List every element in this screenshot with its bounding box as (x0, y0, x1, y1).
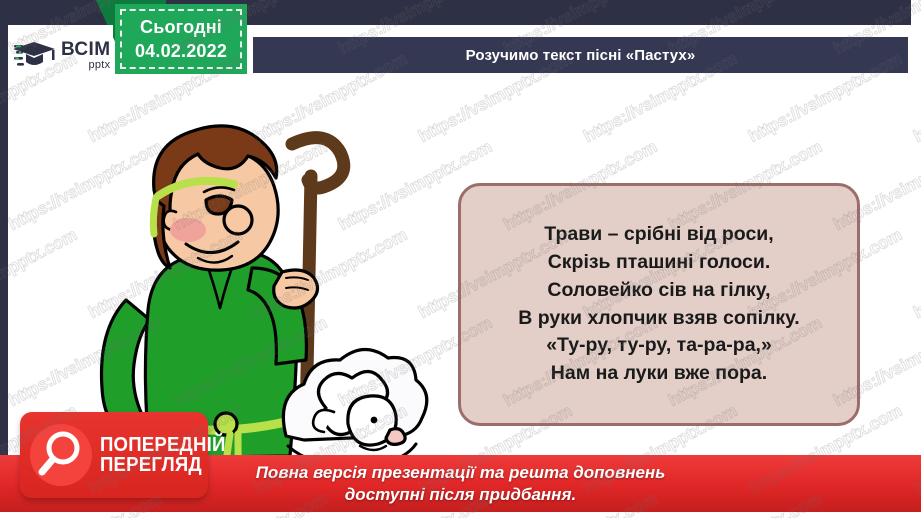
logo-subtitle: pptx (61, 60, 110, 71)
preview-badge-line-1: ПОПЕРЕДНІЙ (100, 435, 226, 455)
date-badge: Сьогодні 04.02.2022 (115, 4, 247, 74)
slide-bottom-border (0, 512, 921, 518)
preview-badge[interactable]: ПОПЕРЕДНІЙ ПЕРЕГЛЯД (20, 412, 208, 498)
logo-title: ВСІМ (61, 40, 110, 59)
preview-badge-line-2: ПЕРЕГЛЯД (100, 455, 226, 475)
magnifier-icon (30, 424, 92, 486)
banner-line-2: доступні після придбання. (345, 484, 576, 506)
slide-left-border (0, 0, 8, 518)
banner-line-1: Повна версія презентації та решта доповн… (256, 462, 666, 484)
brand-logo[interactable]: ВСІМ pptx (8, 25, 113, 85)
lyrics-line: В руки хлопчик взяв сопілку. (518, 305, 799, 333)
lyrics-line: Скрізь пташині голоси. (548, 249, 771, 277)
lyrics-line: Трави – срібні від роси, (544, 221, 773, 249)
date-badge-label: Сьогодні (140, 17, 222, 38)
lyrics-line: Нам на луки вже пора. (551, 360, 767, 388)
slide-canvas: ВСІМ pptx Сьогодні 04.02.2022 Розучимо т… (0, 0, 921, 518)
lyrics-line: Соловейко сів на гілку, (547, 277, 770, 305)
slide-right-border (911, 0, 921, 518)
lyrics-line: «Ту-ру, ту-ру, та-ра-ра,» (546, 332, 772, 360)
graduation-cap-icon (14, 39, 58, 71)
page-title: Розучимо текст пісні «Пастух» (466, 47, 696, 64)
lyrics-text-box: Трави – срібні від роси, Скрізь пташині … (458, 183, 860, 426)
slide-title-bar: Розучимо текст пісні «Пастух» (253, 37, 908, 73)
date-badge-value: 04.02.2022 (135, 41, 227, 62)
